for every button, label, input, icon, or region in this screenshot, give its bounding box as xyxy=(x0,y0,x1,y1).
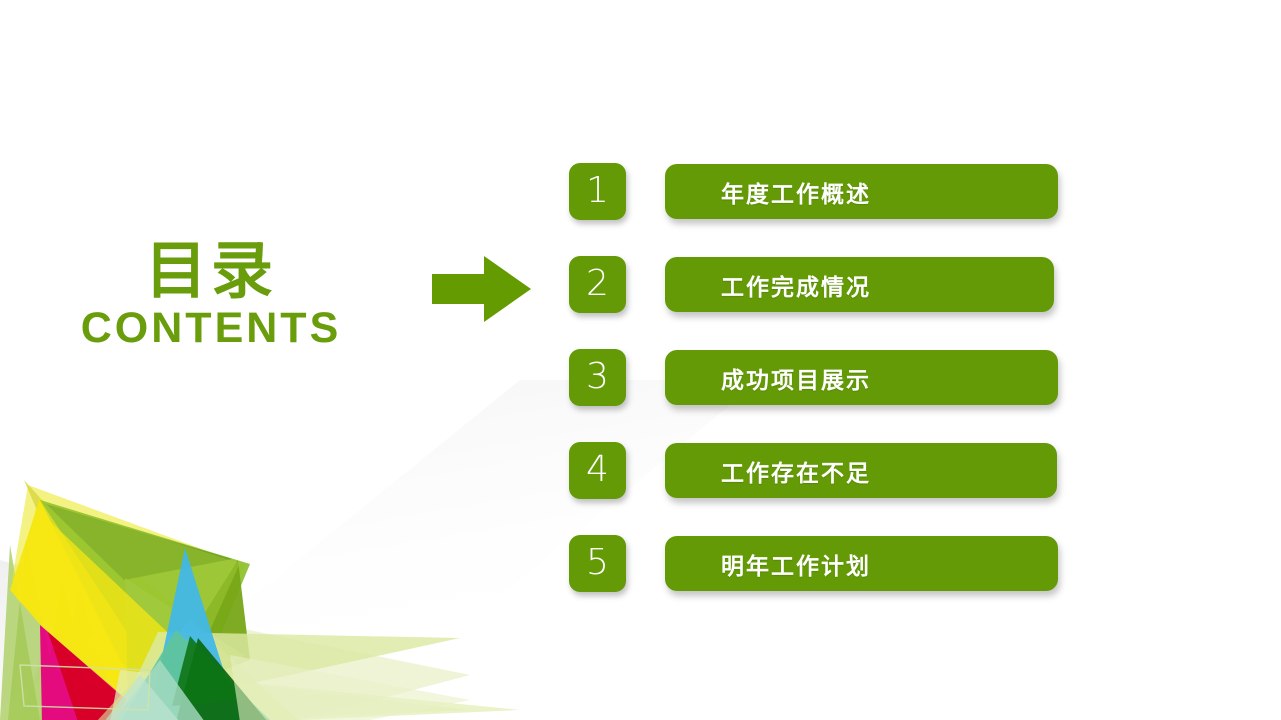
item-number-label: 5 xyxy=(586,545,609,581)
contents-list: 1 年度工作概述 2 工作完成情况 3 成功项目展示 4 xyxy=(569,163,1089,628)
item-number-badge[interactable]: 5 xyxy=(569,535,626,592)
item-bar[interactable]: 年度工作概述 xyxy=(665,164,1058,219)
item-label: 明年工作计划 xyxy=(721,547,871,581)
item-number-badge[interactable]: 2 xyxy=(569,256,626,313)
item-number-badge[interactable]: 1 xyxy=(569,163,626,220)
item-bar[interactable]: 工作完成情况 xyxy=(665,257,1054,312)
list-item[interactable]: 1 年度工作概述 xyxy=(569,163,1089,256)
item-number-label: 2 xyxy=(586,266,609,302)
item-number-label: 4 xyxy=(586,452,609,488)
item-bar[interactable]: 工作存在不足 xyxy=(665,443,1057,498)
list-item[interactable]: 4 工作存在不足 xyxy=(569,442,1089,535)
item-number-label: 3 xyxy=(586,359,609,395)
item-bar[interactable]: 明年工作计划 xyxy=(665,536,1058,591)
title-en: CONTENTS xyxy=(36,305,386,352)
item-label: 工作存在不足 xyxy=(721,454,871,488)
item-label: 年度工作概述 xyxy=(721,175,871,209)
item-number-badge[interactable]: 4 xyxy=(569,442,626,499)
list-item[interactable]: 3 成功项目展示 xyxy=(569,349,1089,442)
item-label: 成功项目展示 xyxy=(721,361,871,395)
page-title: 目录 CONTENTS xyxy=(36,238,386,352)
item-number-label: 1 xyxy=(586,173,609,209)
list-item[interactable]: 2 工作完成情况 xyxy=(569,256,1089,349)
item-bar[interactable]: 成功项目展示 xyxy=(665,350,1058,405)
title-cn: 目录 xyxy=(36,238,386,303)
slide-canvas: 目录 CONTENTS 1 年度工作概述 2 工作完成情况 xyxy=(0,0,1281,720)
arrow-right-icon xyxy=(432,256,532,322)
list-item[interactable]: 5 明年工作计划 xyxy=(569,535,1089,628)
item-label: 工作完成情况 xyxy=(721,268,871,302)
abstract-polygon-artwork xyxy=(0,460,520,720)
item-number-badge[interactable]: 3 xyxy=(569,349,626,406)
